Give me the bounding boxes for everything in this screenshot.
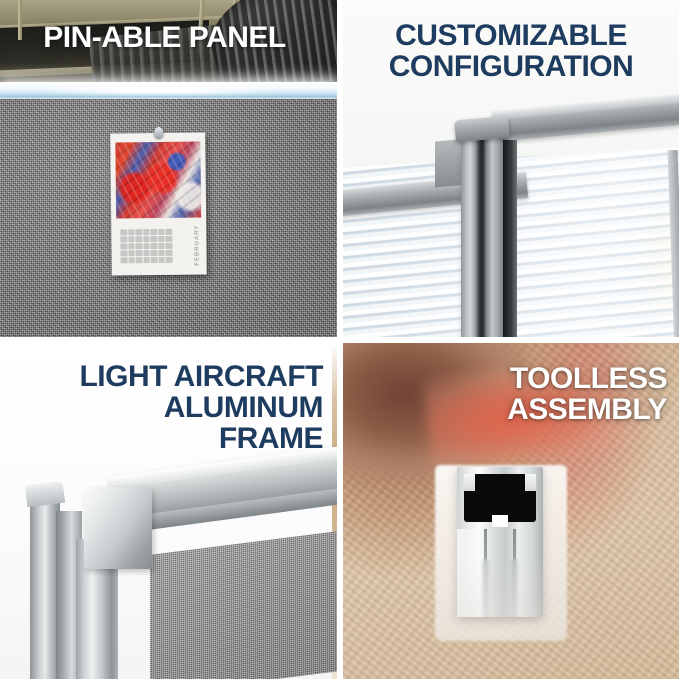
extrusion-center-notch	[492, 515, 508, 527]
feature-collage: FEBRUARY PIN-ABLE PANEL CUSTOMIZABLE CON…	[0, 0, 679, 679]
push-pin-icon	[154, 127, 163, 138]
panel-light-aircraft-aluminum-frame: LIGHT AIRCRAFT ALUMINUM FRAME	[0, 343, 337, 679]
ceiling-backdrop	[0, 0, 337, 84]
calendar-month-label: FEBRUARY	[194, 225, 200, 266]
calendar-artwork	[115, 142, 201, 219]
calendar-date-grid	[120, 229, 172, 264]
frame-mullion	[503, 140, 517, 337]
scene-pin-able-panel: FEBRUARY	[0, 0, 337, 337]
aluminum-extrusion-post	[457, 467, 543, 617]
panel-customizable-configuration: CUSTOMIZABLE CONFIGURATION	[343, 0, 679, 337]
ceiling-pipe	[18, 0, 22, 40]
post-cap	[454, 116, 510, 143]
scene-toolless-assembly	[343, 343, 679, 679]
scene-customizable-configuration	[343, 0, 679, 337]
hvac-duct-icon	[201, 0, 337, 84]
fluorescent-light-fixture	[0, 82, 337, 100]
fabric-panel-insert	[150, 530, 337, 679]
corner-post	[461, 128, 503, 337]
depth-of-field-blur	[457, 559, 543, 617]
scene-light-aircraft-aluminum-frame	[0, 343, 337, 679]
extrusion-lip-left	[464, 474, 475, 491]
extrusion-lip-right	[525, 474, 536, 491]
aluminum-post-cap	[25, 481, 65, 507]
pinned-calendar: FEBRUARY	[110, 133, 206, 276]
panel-pin-able-panel: FEBRUARY PIN-ABLE PANEL	[0, 0, 337, 337]
panel-toolless-assembly: TOOLLESS ASSEMBLY	[343, 343, 679, 679]
aluminum-corner-joint	[84, 487, 152, 569]
